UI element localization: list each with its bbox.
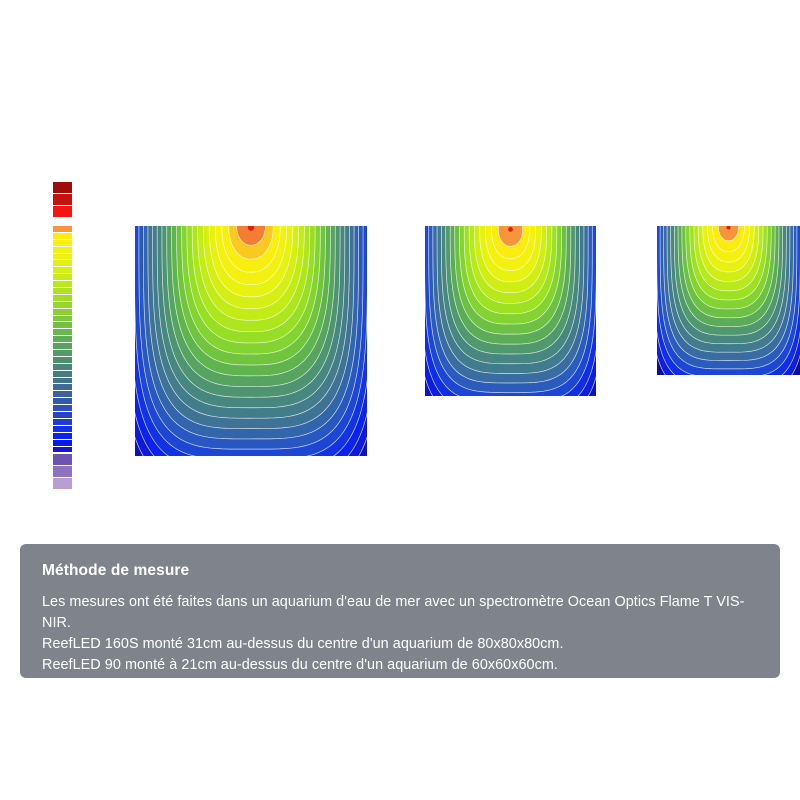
colorbar-band — [53, 371, 72, 378]
plot-reefled-160s — [135, 226, 367, 456]
par-contour-field-90 — [425, 226, 596, 396]
colorbar-band — [53, 466, 72, 478]
colorbar-band — [53, 254, 72, 261]
colorbar-band — [53, 194, 72, 206]
colorbar-band — [53, 274, 72, 281]
colorbar-band — [53, 412, 72, 419]
plot-reefled-90 — [425, 226, 596, 396]
colorbar-band — [53, 350, 72, 357]
colorbar-band — [53, 398, 72, 405]
colorbar-band — [53, 226, 72, 233]
contour-svg-90 — [425, 226, 596, 396]
colorbar-low-band-group — [53, 454, 72, 490]
method-title: Méthode de mesure — [42, 562, 758, 580]
colorbar-band — [53, 240, 72, 247]
colorbar-band — [53, 378, 72, 385]
colorbar-band — [53, 295, 72, 302]
method-of-measurement-box: Méthode de mesure Les mesures ont été fa… — [20, 544, 780, 678]
method-line: Les mesures ont été faites dans un aquar… — [42, 592, 758, 634]
colorbar-band — [53, 440, 72, 447]
colorbar-band — [53, 454, 72, 466]
contour-peak-core — [508, 227, 513, 232]
colorbar-band — [53, 281, 72, 288]
colorbar-band — [53, 478, 72, 490]
colorbar-band — [53, 288, 72, 295]
plot-reefled-50 — [657, 226, 800, 375]
par-contour-field-160s — [135, 226, 367, 456]
colorbar-band — [53, 233, 72, 240]
colorbar-band — [53, 182, 72, 194]
par-intensity-colorbar — [53, 182, 72, 494]
colorbar-band — [53, 322, 72, 329]
colorbar-band — [53, 247, 72, 254]
colorbar-band — [53, 336, 72, 343]
par-contour-field-50 — [657, 226, 800, 375]
colorbar-band — [53, 343, 72, 350]
colorbar-band — [53, 302, 72, 309]
colorbar-band — [53, 419, 72, 426]
colorbar-band — [53, 426, 72, 433]
colorbar-band — [53, 405, 72, 412]
colorbar-band — [53, 260, 72, 267]
method-line: ReefLED 90 monté à 21cm au-dessus du cen… — [42, 655, 758, 676]
colorbar-high-band-group — [53, 182, 72, 218]
colorbar-main-band-group — [53, 226, 72, 453]
colorbar-band — [53, 329, 72, 336]
method-line: ReefLED 50 monté à 17cm au-dessus du cen… — [42, 676, 758, 697]
colorbar-band — [53, 433, 72, 440]
colorbar-band — [53, 357, 72, 364]
colorbar-band — [53, 206, 72, 218]
colorbar-band — [53, 364, 72, 371]
colorbar-band — [53, 309, 72, 316]
contour-svg-50 — [657, 226, 800, 375]
colorbar-band — [53, 316, 72, 323]
colorbar-band — [53, 267, 72, 274]
colorbar-band — [53, 391, 72, 398]
method-line: ReefLED 160S monté 31cm au-dessus du cen… — [42, 634, 758, 655]
colorbar-band — [53, 447, 72, 454]
contour-svg-160s — [135, 226, 367, 456]
colorbar-band — [53, 384, 72, 391]
